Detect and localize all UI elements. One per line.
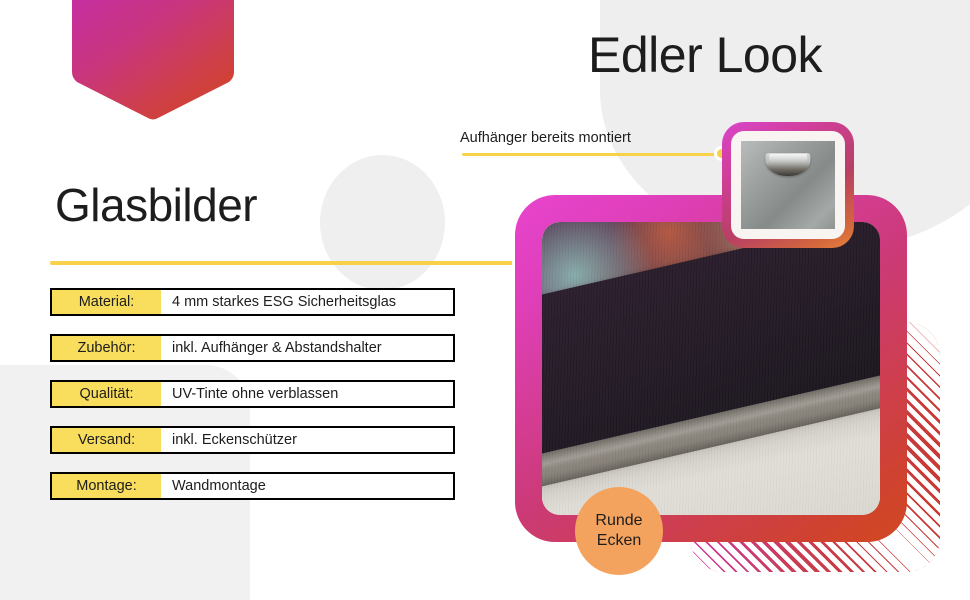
badge-line-2: Ecken	[597, 531, 641, 551]
table-row: Montage: Wandmontage	[50, 472, 455, 500]
table-row: Versand: inkl. Eckenschützer	[50, 426, 455, 454]
product-photo-card	[515, 195, 907, 542]
spec-value: 4 mm starkes ESG Sicherheitsglas	[161, 290, 453, 314]
spec-value: inkl. Aufhänger & Abstandshalter	[161, 336, 453, 360]
connector-line-hanger	[462, 153, 720, 156]
spec-label: Material:	[52, 290, 161, 314]
photo-surface-texture	[542, 222, 880, 515]
spec-label: Zubehör:	[52, 336, 161, 360]
connector-line-main	[50, 261, 520, 265]
spec-value: inkl. Eckenschützer	[161, 428, 453, 452]
page-heading-edler-look: Edler Look	[588, 26, 822, 84]
table-row: Zubehör: inkl. Aufhänger & Abstandshalte…	[50, 334, 455, 362]
hanger-frame	[731, 131, 845, 239]
spec-table: Material: 4 mm starkes ESG Sicherheitsgl…	[50, 288, 455, 518]
spec-value: Wandmontage	[161, 474, 453, 498]
spec-label: Versand:	[52, 428, 161, 452]
infographic-canvas: Edler Look Glasbilder Aufhänger bereits …	[0, 0, 970, 600]
hanger-callout-label: Aufhänger bereits montiert	[460, 130, 631, 146]
product-photo	[542, 222, 880, 515]
table-row: Qualität: UV-Tinte ohne verblassen	[50, 380, 455, 408]
spec-label: Qualität:	[52, 382, 161, 406]
shield-icon	[68, 0, 238, 122]
page-title: Glasbilder	[55, 178, 257, 232]
hanger-clip-highlight	[769, 154, 807, 162]
spec-value: UV-Tinte ohne verblassen	[161, 382, 453, 406]
badge-line-1: Runde	[595, 511, 642, 531]
table-row: Material: 4 mm starkes ESG Sicherheitsgl…	[50, 288, 455, 316]
decorative-circle-behind-title	[320, 155, 445, 290]
spec-label: Montage:	[52, 474, 161, 498]
wall-hanger-icon	[741, 141, 835, 229]
hanger-detail-card	[722, 122, 854, 248]
status-badge-runde-ecken: Runde Ecken	[575, 487, 663, 575]
